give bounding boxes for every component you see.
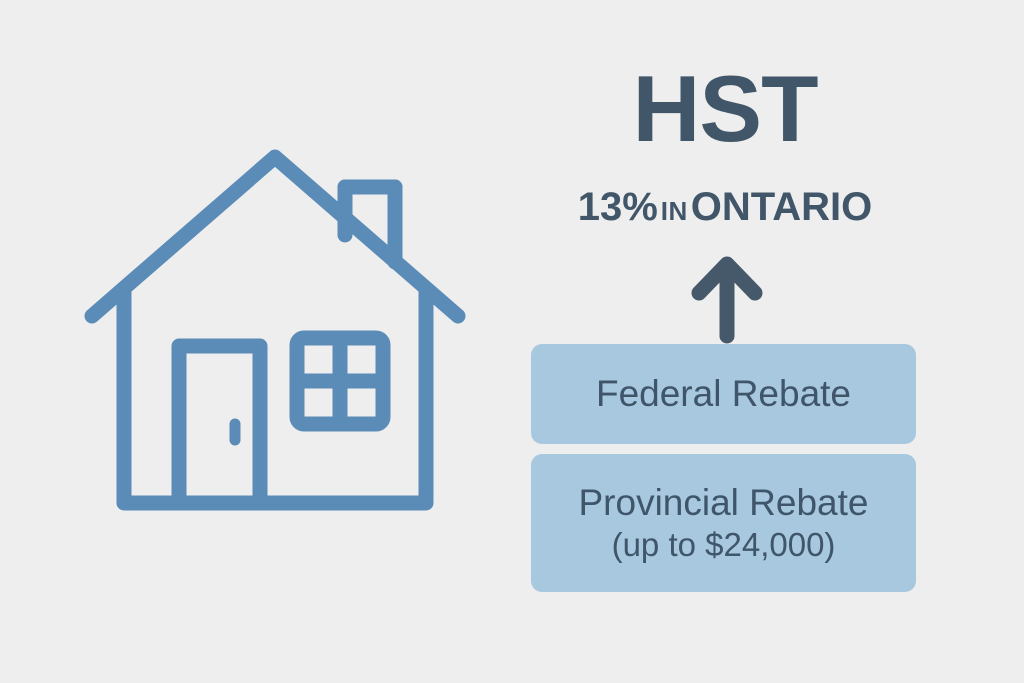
rate-subtitle: 13%INONTARIO <box>520 186 930 232</box>
front-door <box>179 346 260 503</box>
provincial-rebate-amount: (up to $24,000) <box>612 525 836 565</box>
federal-rebate-label: Federal Rebate <box>596 372 851 416</box>
provincial-rebate-label: Provincial Rebate <box>579 481 869 525</box>
page-title: HST <box>520 62 930 156</box>
tax-rate-value: 13% <box>578 185 658 229</box>
subtitle-joiner: IN <box>658 196 691 226</box>
house-icon <box>78 140 478 530</box>
federal-rebate-box: Federal Rebate <box>531 344 916 444</box>
info-column: HST 13%INONTARIO Federal Rebate Provinci… <box>520 62 930 602</box>
province-name: ONTARIO <box>691 185 872 229</box>
arrow-up-icon <box>690 252 764 344</box>
infographic-canvas: HST 13%INONTARIO Federal Rebate Provinci… <box>0 0 1024 683</box>
roof-line <box>92 157 458 316</box>
provincial-rebate-box: Provincial Rebate (up to $24,000) <box>531 454 916 592</box>
